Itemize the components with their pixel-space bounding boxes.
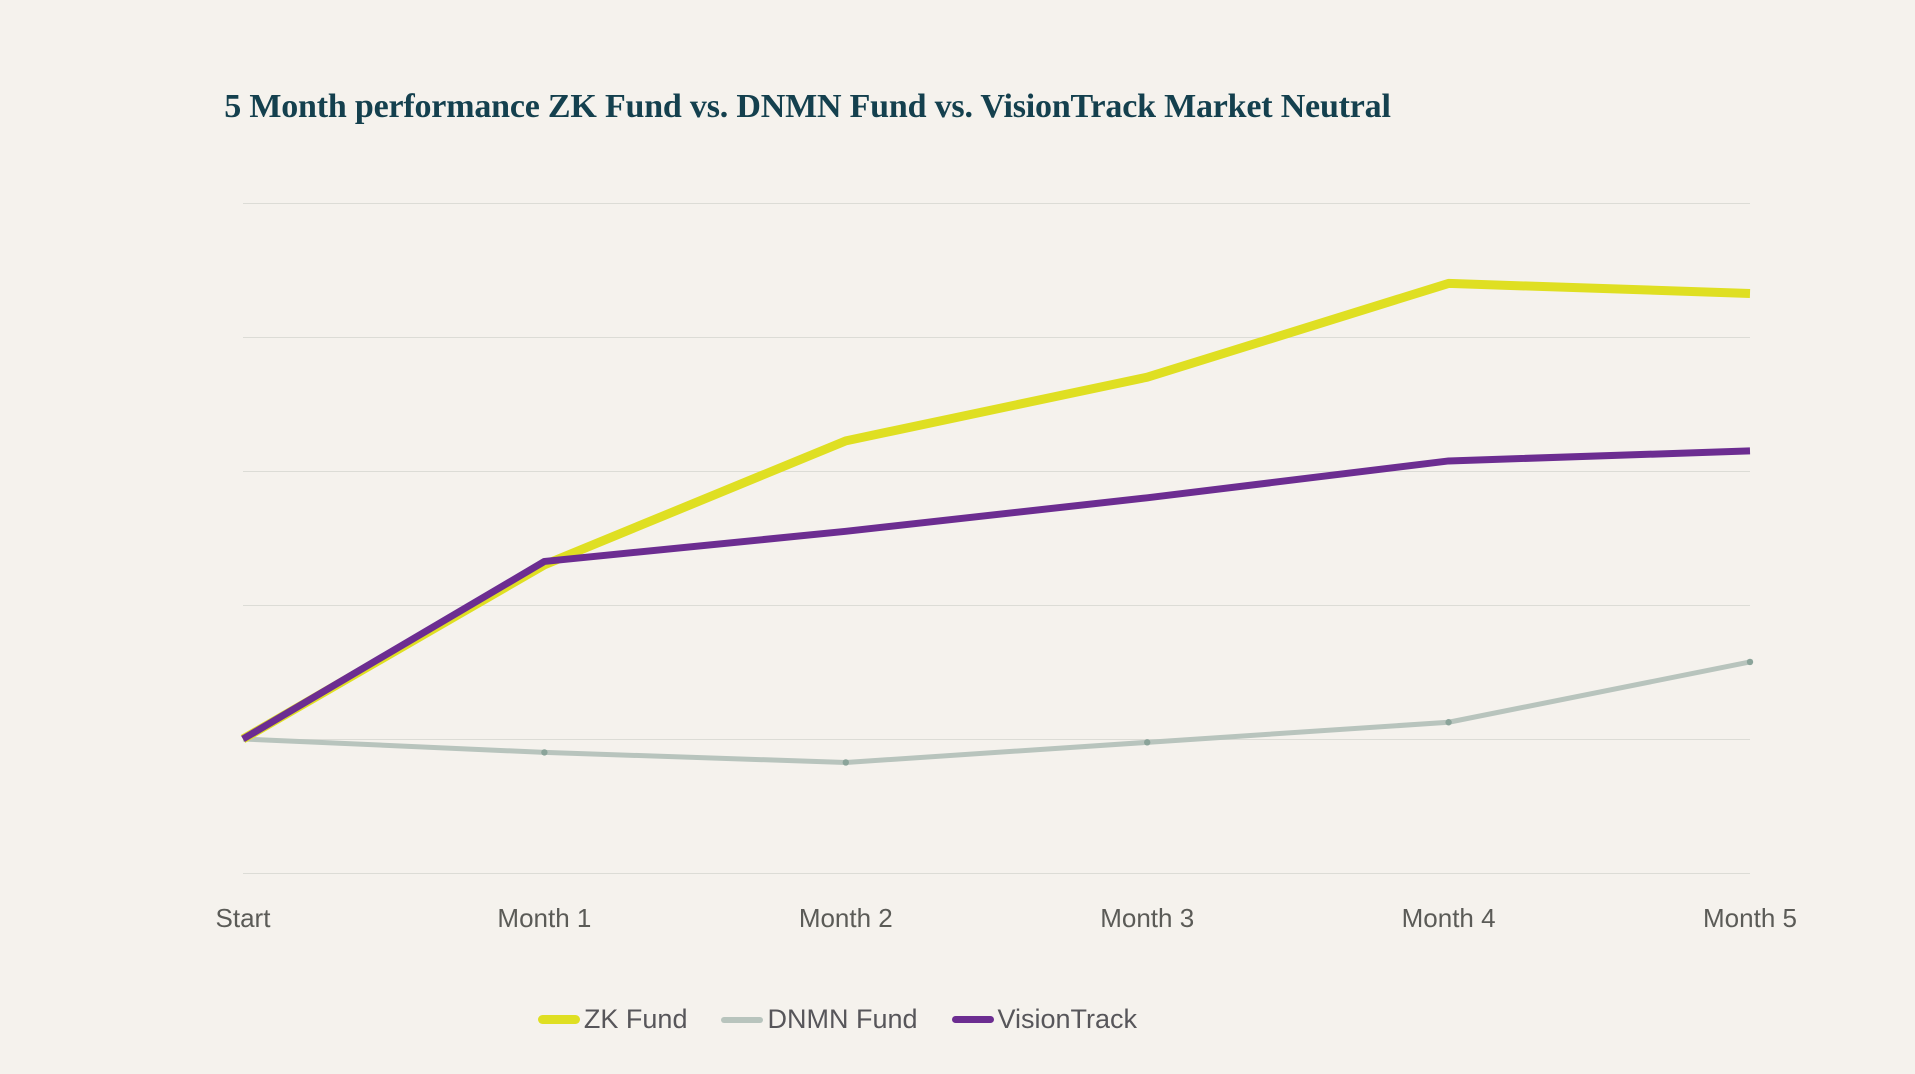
legend-label: DNMN Fund xyxy=(767,1004,917,1035)
legend-item-visiontrack[interactable]: VisionTrack xyxy=(952,1004,1138,1035)
data-point-marker xyxy=(1144,739,1150,745)
chart-container: 5 Month performance ZK Fund vs. DNMN Fun… xyxy=(0,0,1915,1074)
series-line-dnmn-fund xyxy=(243,662,1750,763)
legend-item-dnmn-fund[interactable]: DNMN Fund xyxy=(721,1004,917,1035)
data-point-marker xyxy=(1445,719,1451,725)
series-line-visiontrack xyxy=(243,451,1750,739)
legend-swatch-icon xyxy=(538,1015,580,1024)
data-point-marker xyxy=(541,749,547,755)
chart-legend: ZK FundDNMN FundVisionTrack xyxy=(0,1004,1915,1035)
data-point-marker xyxy=(1747,659,1753,665)
data-point-marker xyxy=(843,759,849,765)
legend-label: VisionTrack xyxy=(998,1004,1138,1035)
legend-label: ZK Fund xyxy=(584,1004,688,1035)
legend-swatch-icon xyxy=(952,1016,994,1023)
legend-item-zk-fund[interactable]: ZK Fund xyxy=(538,1004,688,1035)
series-lines xyxy=(0,0,1915,1074)
legend-swatch-icon xyxy=(721,1017,763,1023)
